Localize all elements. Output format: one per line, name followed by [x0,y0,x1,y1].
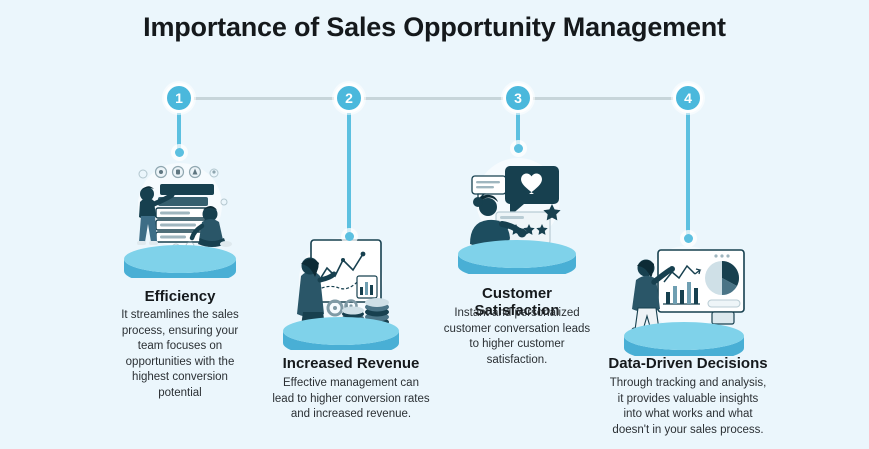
timeline-connector-line [186,97,686,100]
step-1-body: It streamlines the sales process, ensuri… [118,308,242,401]
step-4-title: Data-Driven Decisions [604,355,772,372]
timeline-drop-line-4 [686,112,690,238]
growth-chart-coins-illustration [277,232,405,350]
step-4-body: Through tracking and analysis, it provid… [608,376,768,438]
timeline-node-3-label: 3 [514,90,522,106]
timeline-node-4[interactable]: 4 [673,83,703,113]
infographic-canvas: Importance of Sales Opportunity Manageme… [0,0,869,449]
timeline-node-2[interactable]: 2 [334,83,364,113]
timeline-drop-dot-4 [684,234,693,243]
timeline-drop-line-2 [347,112,351,236]
timeline-node-1-label: 1 [175,90,183,106]
analytics-dashboard-illustration [616,240,752,356]
timeline-node-2-label: 2 [345,90,353,106]
timeline-drop-line-1 [177,112,181,152]
step-1-title: Efficiency [118,288,242,305]
timeline-node-1[interactable]: 1 [164,83,194,113]
timeline-drop-dot-3 [514,144,523,153]
timeline-drop-dot-2 [345,232,354,241]
timeline-drop-dot-1 [175,148,184,157]
timeline-node-3[interactable]: 3 [503,83,533,113]
step-2-title: Increased Revenue [272,355,430,372]
step-3-body: Instant and personalized customer conver… [442,306,592,368]
timeline-node-4-label: 4 [684,90,692,106]
step-2-body: Effective management can lead to higher … [272,376,430,423]
heart-star-rating-illustration [452,152,580,274]
team-checklist-illustration [116,158,244,278]
page-title: Importance of Sales Opportunity Manageme… [0,12,869,43]
timeline-drop-line-3 [516,112,520,148]
